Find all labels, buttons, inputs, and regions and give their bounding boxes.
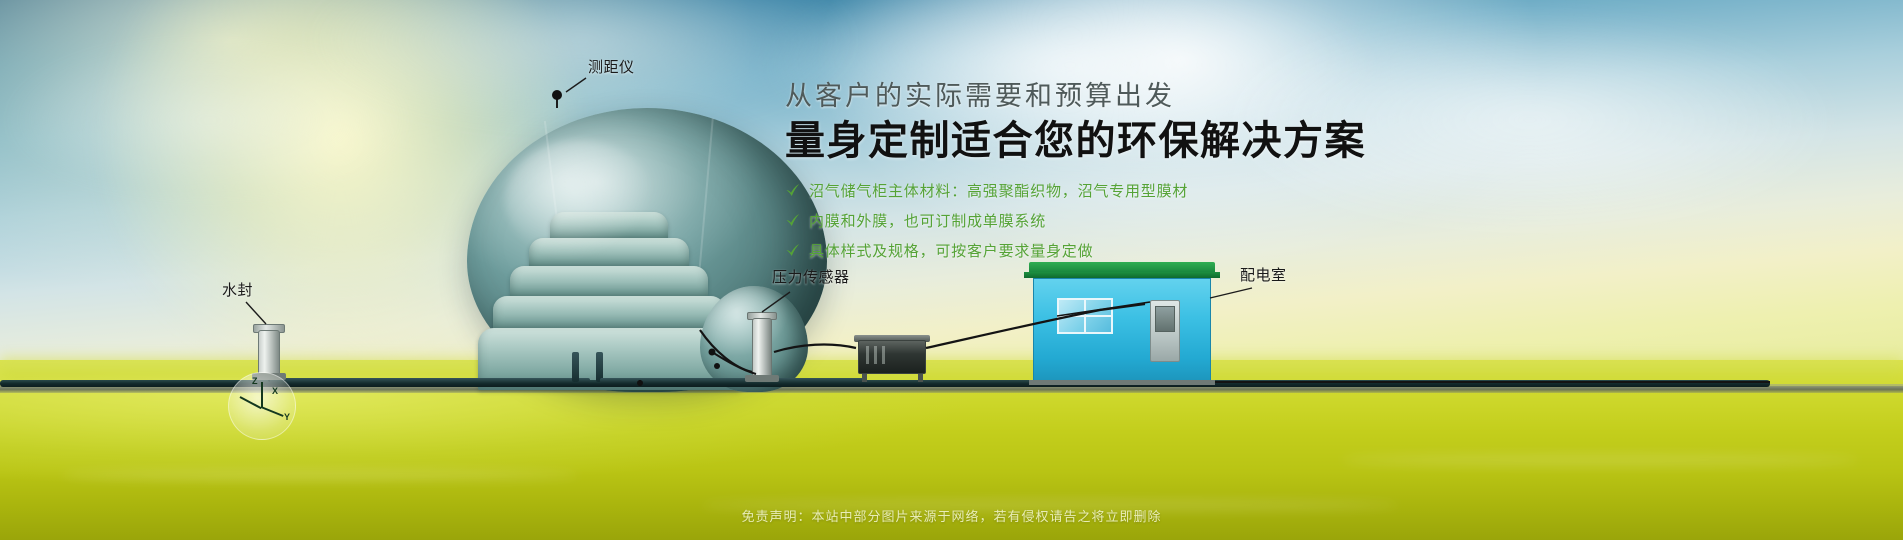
green-check-icon xyxy=(785,213,800,228)
list-item: 内膜和外膜，也可订制成单膜系统 xyxy=(785,210,1525,231)
label-rangefinder: 测距仪 xyxy=(588,60,635,75)
leader-power-room xyxy=(1210,288,1252,298)
banner-eyebrow: 从客户的实际需要和预算出发 xyxy=(785,80,1525,112)
list-item-label: 具体样式及规格，可按客户要求量身定做 xyxy=(809,240,1093,261)
green-check-icon xyxy=(785,243,800,258)
leader-water-seal xyxy=(246,302,266,324)
banner-copy: 从客户的实际需要和预算出发 量身定制适合您的环保解决方案 沼气储气柜主体材料：高… xyxy=(785,80,1525,270)
label-water-seal: 水封 xyxy=(222,283,253,298)
axis-label-z: Z xyxy=(252,376,258,386)
list-item-label: 沼气储气柜主体材料：高强聚酯织物，沼气专用型膜材 xyxy=(809,180,1188,201)
banner-headline: 量身定制适合您的环保解决方案 xyxy=(785,118,1525,164)
list-item: 具体样式及规格，可按客户要求量身定做 xyxy=(785,240,1525,261)
leader-pressure-sensor xyxy=(762,292,790,312)
label-pressure-sensor: 压力传感器 xyxy=(772,270,850,285)
leader-rangefinder xyxy=(566,78,586,92)
axis-gizmo: Z X Y xyxy=(228,372,296,440)
list-item: 沼气储气柜主体材料：高强聚酯织物，沼气专用型膜材 xyxy=(785,180,1525,201)
list-item-label: 内膜和外膜，也可订制成单膜系统 xyxy=(809,210,1046,231)
axis-z-line xyxy=(261,382,263,408)
axis-label-x: X xyxy=(272,386,278,396)
green-check-icon xyxy=(785,183,800,198)
axis-label-y: Y xyxy=(284,412,290,422)
banner-feature-list: 沼气储气柜主体材料：高强聚酯织物，沼气专用型膜材 内膜和外膜，也可订制成单膜系统… xyxy=(785,180,1525,261)
disclaimer-text: 免责声明：本站中部分图片来源于网络，若有侵权请告之将立即删除 xyxy=(0,506,1903,525)
